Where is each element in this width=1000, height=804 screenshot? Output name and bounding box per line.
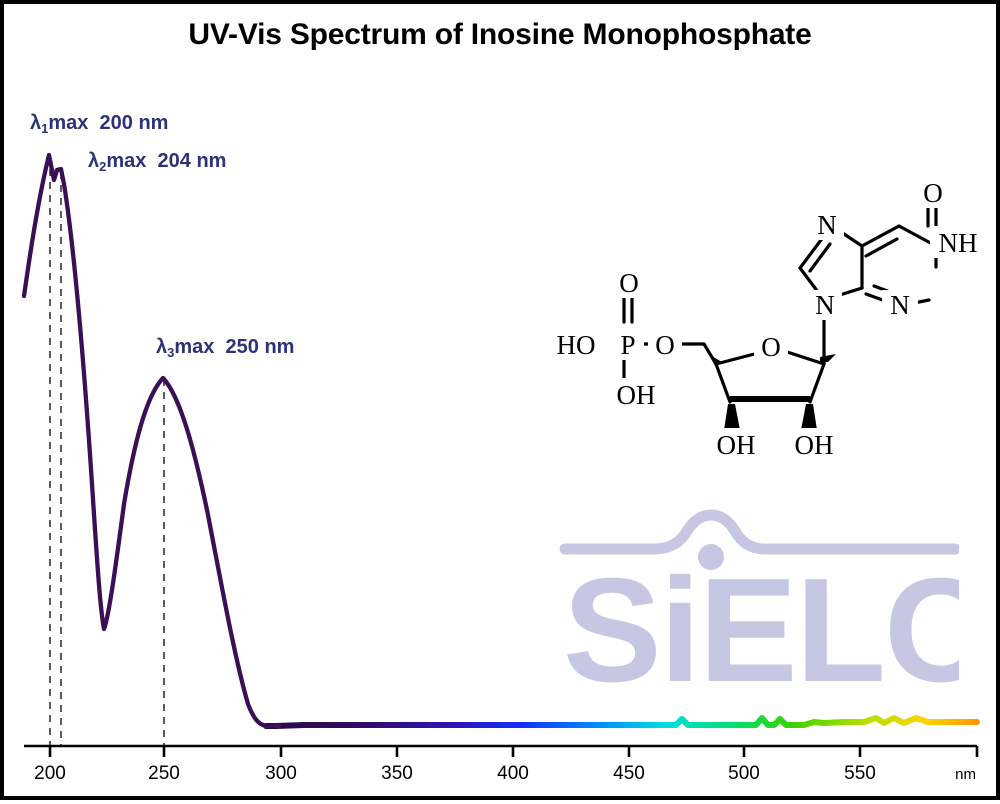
x-tick-label: 300: [265, 763, 297, 784]
x-tick-label: 200: [34, 763, 66, 784]
spectrum-figure: UV-Vis Spectrum of Inosine Monophosphate…: [0, 0, 1000, 800]
peak-marker-lines: [50, 156, 164, 746]
x-axis-unit-label: nm: [955, 766, 976, 783]
absorbance-curve: [24, 155, 280, 726]
x-tick-label: 350: [381, 763, 413, 784]
x-axis-tick-labels: 200 250 300 350 400 450 500 550: [34, 763, 876, 784]
x-tick-label: 450: [613, 763, 645, 784]
x-tick-label: 250: [148, 763, 180, 784]
x-axis: [24, 746, 977, 757]
x-tick-label: 500: [728, 763, 760, 784]
spectrum-plot: 200 250 300 350 400 450 500 550 nm: [4, 4, 1000, 804]
x-tick-label: 400: [497, 763, 529, 784]
baseline-spectrum-trace: [266, 718, 977, 726]
x-tick-label: 550: [844, 763, 876, 784]
